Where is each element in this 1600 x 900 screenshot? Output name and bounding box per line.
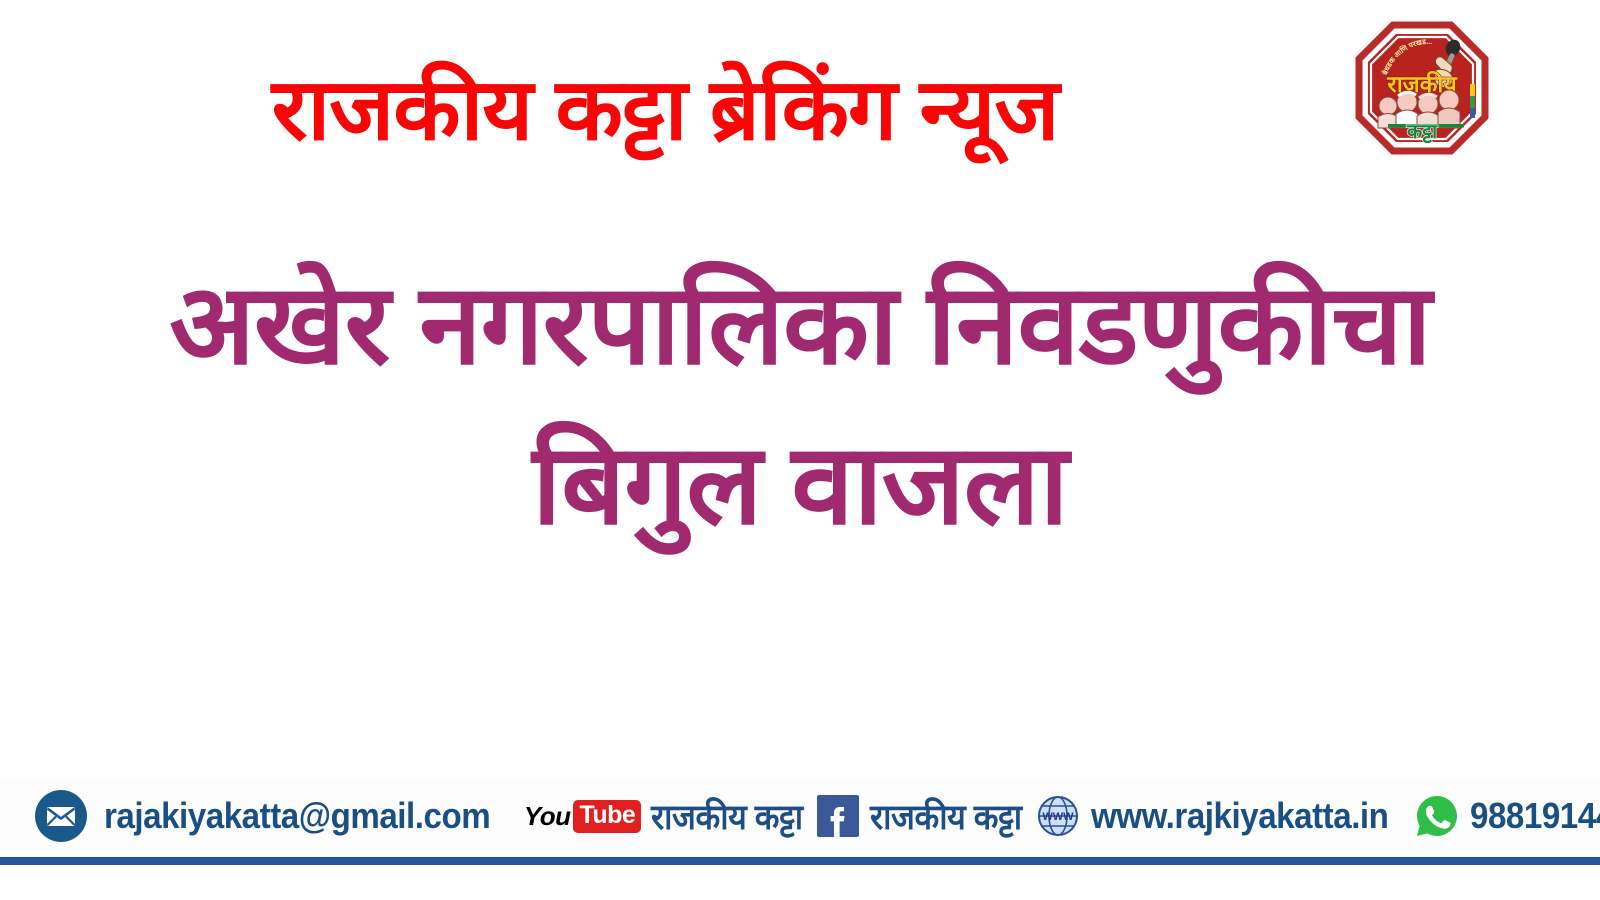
footer-item-whatsapp[interactable]: 9881914434 /9422934434: [1414, 793, 1600, 839]
footer-item-facebook[interactable]: राजकीय कट्टा: [816, 793, 1035, 840]
logo-octagon-svg: बेधडक आणि परखड... राजकीय: [1352, 18, 1492, 166]
main-headline: अखेर नगरपालिका निवडणुकीचा बिगुल वाजला: [24, 252, 1576, 557]
whatsapp-numbers-text: 9881914434 /9422934434: [1470, 795, 1600, 837]
youtube-tube-text: Tube: [573, 800, 641, 833]
footer-contact-bar: rajakiyakatta@gmail.com You Tube राजकीय …: [0, 778, 1600, 854]
globe-www-icon: WWW: [1035, 793, 1081, 839]
facebook-icon: [816, 794, 860, 838]
rajkiya-katta-logo: बेधडक आणि परखड... राजकीय: [1352, 18, 1492, 166]
youtube-icon: You Tube: [524, 800, 642, 833]
footer-item-youtube[interactable]: You Tube राजकीय कट्टा: [524, 793, 816, 840]
breaking-news-headline: राजकीय कट्टा ब्रेकिंग न्यूज: [0, 62, 1343, 158]
website-url-text: www.rajkiyakatta.in: [1091, 795, 1388, 837]
headline-line-1: अखेर नगरपालिका निवडणुकीचा: [24, 252, 1576, 398]
youtube-you-text: You: [524, 801, 571, 832]
whatsapp-icon: [1414, 793, 1460, 839]
logo-word-bottom: कट्टा: [1406, 121, 1438, 144]
youtube-channel-name: राजकीय कट्टा: [651, 793, 803, 840]
email-address-text: rajakiyakatta@gmail.com: [104, 795, 490, 837]
facebook-page-name: राजकीय कट्टा: [870, 793, 1022, 840]
footer-item-website[interactable]: WWW www.rajkiyakatta.in: [1035, 793, 1414, 839]
globe-www-text: WWW: [1043, 811, 1075, 823]
news-banner-page: बेधडक आणि परखड... राजकीय: [0, 0, 1600, 900]
envelope-icon: [34, 789, 88, 843]
footer-divider-rule: [0, 857, 1600, 865]
headline-line-2: बिगुल वाजला: [24, 412, 1576, 558]
footer-item-email[interactable]: rajakiyakatta@gmail.com: [34, 789, 524, 843]
